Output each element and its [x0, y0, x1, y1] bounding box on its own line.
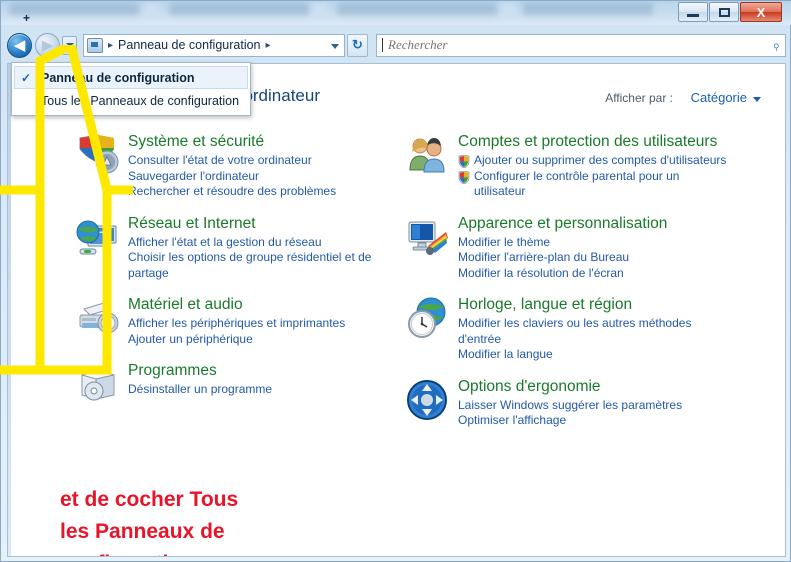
category-task-link[interactable]: Modifier l'arrière-plan du Bureau: [458, 250, 667, 266]
category-item: Options d'ergonomieLaisser Windows suggé…: [404, 377, 734, 429]
category-title-link[interactable]: Système et sécurité: [128, 133, 336, 151]
appearance-monitor-icon: [404, 214, 450, 260]
forward-icon[interactable]: ▶: [35, 33, 60, 58]
category-body: Système et sécuritéConsulter l'état de v…: [128, 132, 336, 200]
refresh-icon[interactable]: ↻: [347, 34, 368, 57]
category-item: ProgrammesDésinstaller un programme: [74, 361, 394, 407]
category-task-link[interactable]: Consulter l'état de votre ordinateur: [128, 153, 336, 169]
search-input[interactable]: [386, 36, 772, 54]
window-frame: + X ◀ ▶ ▸ Panneau de configuration ▸ ↻ ⌕: [0, 0, 791, 562]
security-shield-icon[interactable]: [74, 132, 120, 178]
breadcrumb-item-control-panel[interactable]: Panneau de configuration: [118, 38, 260, 52]
dropdown-menu-item-label: Tous les Panneaux de configuration: [41, 94, 239, 108]
dropdown-menu-item-label: Panneau de configuration: [41, 71, 195, 85]
clock-globe-icon[interactable]: [404, 295, 450, 341]
category-item: Réseau et InternetAfficher l'état et la …: [74, 214, 394, 282]
category-task-link[interactable]: Afficher les périphériques et imprimante…: [128, 316, 345, 332]
blurred-tab: [169, 3, 309, 15]
category-column-right: Comptes et protection des utilisateurs A…: [404, 132, 734, 443]
chevron-down-icon[interactable]: [753, 97, 761, 102]
network-globe-icon[interactable]: [74, 214, 120, 260]
category-task-link[interactable]: Modifier les claviers ou les autres méth…: [458, 316, 734, 347]
annotation-red-line: configuration: [60, 548, 360, 557]
ease-of-access-icon: [404, 377, 450, 423]
category-body: Réseau et InternetAfficher l'état et la …: [128, 214, 394, 282]
blurred-tab: [337, 3, 497, 15]
category-task-link[interactable]: Laisser Windows suggérer les paramètres: [458, 398, 682, 414]
clock-globe-icon: [404, 295, 450, 341]
category-task-link[interactable]: Modifier le thème: [458, 235, 667, 251]
category-title-link[interactable]: Matériel et audio: [128, 296, 345, 314]
annotation-red-line: et de cocher Tous: [60, 484, 360, 516]
uac-shield-icon: [458, 155, 470, 168]
breadcrumb-separator: ▸: [108, 40, 113, 51]
annotation-red-text: et de cocher Tousles Panneaux deconfigur…: [60, 484, 360, 557]
minimize-icon: [687, 14, 699, 17]
dropdown-menu-item[interactable]: ✓Panneau de configuration: [14, 66, 248, 89]
maximize-icon: [719, 8, 730, 17]
text-cursor: [382, 38, 383, 52]
category-item: Comptes et protection des utilisateurs A…: [404, 132, 734, 200]
programs-disc-icon[interactable]: [74, 361, 120, 407]
history-dropdown-button[interactable]: [62, 36, 77, 55]
uac-shield-icon: [458, 171, 470, 184]
pane-left-edge: [8, 64, 11, 557]
blurred-tab: [145, 3, 159, 15]
category-task-link[interactable]: Sauvegarder l'ordinateur: [128, 169, 336, 185]
category-item: Système et sécuritéConsulter l'état de v…: [74, 132, 394, 200]
appearance-monitor-icon[interactable]: [404, 214, 450, 260]
blurred-tab: [501, 3, 515, 15]
category-body: Matériel et audioAfficher les périphériq…: [128, 295, 345, 347]
category-item: Horloge, langue et régionModifier les cl…: [404, 295, 734, 363]
navigation-toolbar: ◀ ▶ ▸ Panneau de configuration ▸ ↻ ⌕: [1, 29, 791, 61]
hardware-printer-icon: [74, 295, 120, 341]
window-caption-buttons: X: [677, 2, 782, 22]
category-body: Apparence et personnalisationModifier le…: [458, 214, 667, 282]
minimize-button[interactable]: [678, 2, 708, 22]
category-body: Comptes et protection des utilisateurs A…: [458, 132, 734, 200]
category-task-link[interactable]: Modifier la langue: [458, 347, 734, 363]
back-icon[interactable]: ◀: [7, 33, 32, 58]
maximize-button[interactable]: [709, 2, 739, 22]
category-task-link[interactable]: Configurer le contrôle parental pour un …: [458, 169, 734, 200]
search-box[interactable]: ⌕: [376, 34, 786, 57]
category-column-left: Système et sécuritéConsulter l'état de v…: [74, 132, 394, 421]
content-pane: Ajuster les paramètres de l'ordinateur A…: [7, 63, 786, 557]
category-task-link[interactable]: Afficher l'état et la gestion du réseau: [128, 235, 394, 251]
user-accounts-icon[interactable]: [404, 132, 450, 178]
view-by-label: Afficher par :: [605, 91, 673, 105]
category-item: Apparence et personnalisationModifier le…: [404, 214, 734, 282]
browser-tabstrip: +: [1, 1, 791, 25]
category-task-link[interactable]: Ajouter un périphérique: [128, 332, 345, 348]
category-task-link[interactable]: Désinstaller un programme: [128, 382, 272, 398]
address-dropdown-icon[interactable]: [331, 44, 339, 49]
category-item: Matériel et audioAfficher les périphériq…: [74, 295, 394, 347]
category-title-link[interactable]: Réseau et Internet: [128, 215, 394, 233]
chevron-down-icon: [66, 43, 74, 47]
ease-of-access-icon[interactable]: [404, 377, 450, 423]
category-title-link[interactable]: Apparence et personnalisation: [458, 215, 667, 233]
category-task-link[interactable]: Rechercher et résoudre des problèmes: [128, 184, 336, 200]
blurred-tab: [523, 3, 653, 15]
category-body: Options d'ergonomieLaisser Windows suggé…: [458, 377, 682, 429]
annotation-red-line: les Panneaux de: [60, 516, 360, 548]
close-button[interactable]: X: [740, 2, 782, 22]
category-task-link[interactable]: Choisir les options de groupe résidentie…: [128, 250, 394, 281]
category-body: ProgrammesDésinstaller un programme: [128, 361, 272, 407]
check-icon: ✓: [21, 71, 41, 85]
user-accounts-icon: [404, 132, 450, 178]
category-body: Horloge, langue et régionModifier les cl…: [458, 295, 734, 363]
category-task-link[interactable]: Ajouter ou supprimer des comptes d'utili…: [458, 153, 734, 169]
view-by-value[interactable]: Catégorie: [691, 90, 747, 105]
address-history-dropdown-menu[interactable]: ✓Panneau de configurationTous les Pannea…: [11, 62, 251, 116]
control-panel-icon: [87, 38, 103, 53]
category-title-link[interactable]: Horloge, langue et région: [458, 296, 734, 314]
dropdown-menu-item[interactable]: Tous les Panneaux de configuration: [15, 89, 247, 112]
category-task-link[interactable]: Modifier la résolution de l'écran: [458, 266, 667, 282]
breadcrumb-separator-trailing[interactable]: ▸: [266, 40, 271, 51]
category-title-link[interactable]: Comptes et protection des utilisateurs: [458, 133, 734, 151]
programs-disc-icon: [74, 361, 120, 407]
security-shield-icon: [74, 132, 120, 178]
category-task-link[interactable]: Optimiser l'affichage: [458, 413, 682, 429]
network-globe-icon: [74, 214, 120, 260]
category-title-link[interactable]: Options d'ergonomie: [458, 378, 682, 396]
blurred-tab: [313, 3, 327, 15]
hardware-printer-icon[interactable]: [74, 295, 120, 341]
category-title-link[interactable]: Programmes: [128, 362, 272, 380]
address-bar[interactable]: ▸ Panneau de configuration ▸: [83, 34, 345, 57]
new-tab-button[interactable]: +: [23, 14, 31, 22]
